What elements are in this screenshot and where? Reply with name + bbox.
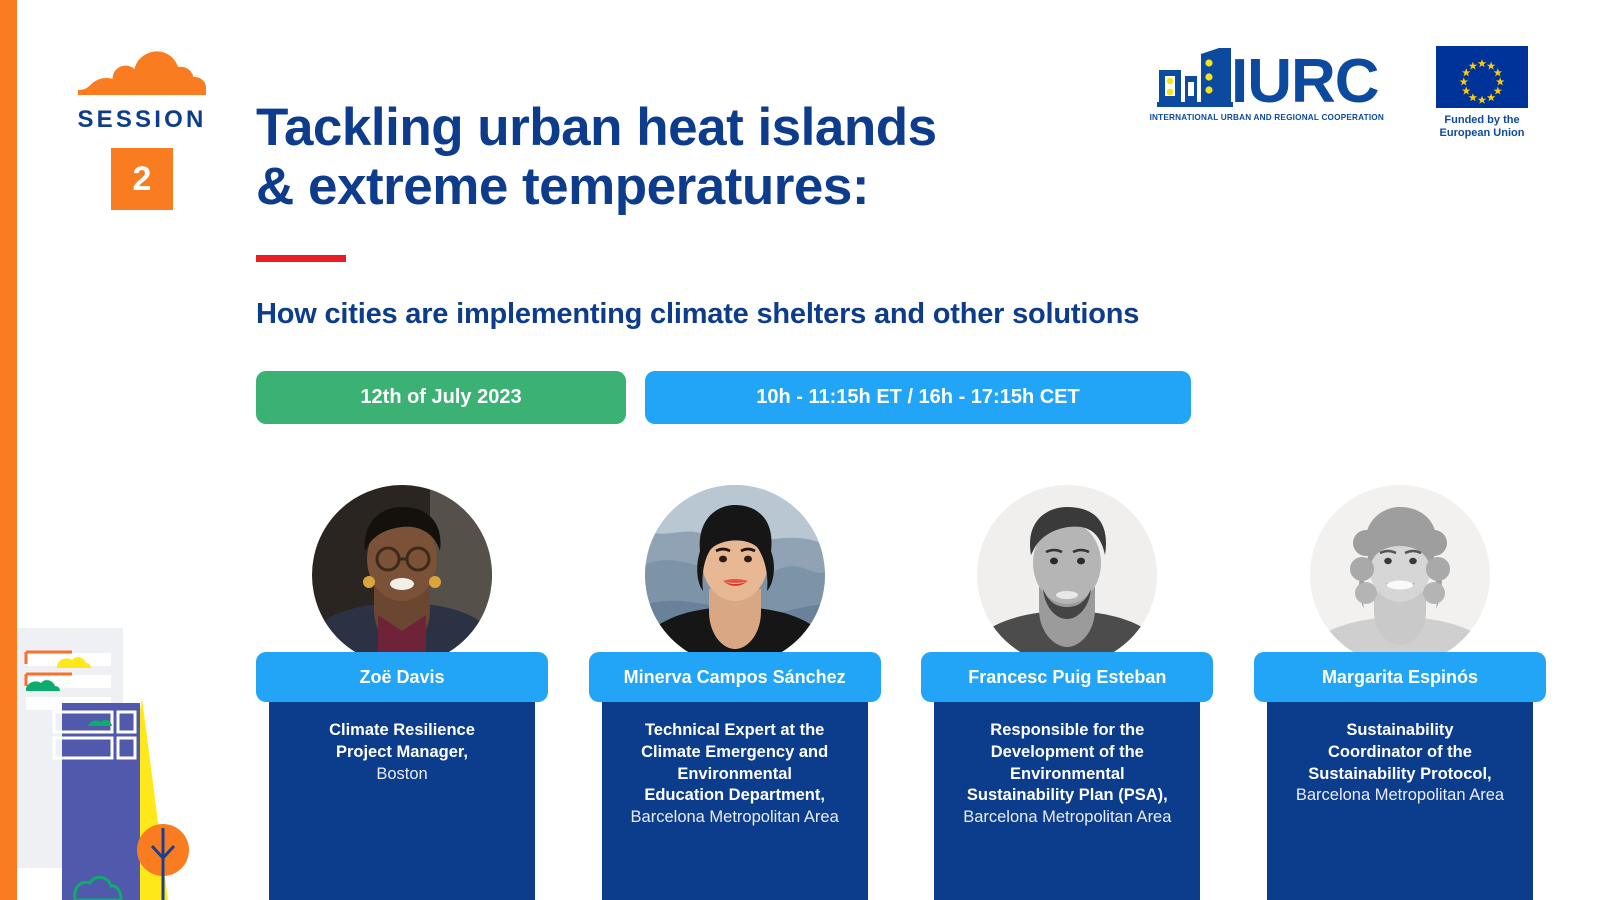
speaker-role: Technical Expert at theClimate Emergency… (612, 720, 858, 807)
cloud-icon (72, 48, 212, 96)
speaker-name: Minerva Campos Sánchez (589, 652, 881, 702)
speaker-card: Zoë Davis Climate ResilienceProject Mana… (256, 485, 548, 900)
red-divider (256, 255, 346, 262)
headline-block: Tackling urban heat islands & extreme te… (256, 98, 1336, 331)
eu-caption: Funded by the European Union (1440, 114, 1525, 140)
page-title: Tackling urban heat islands & extreme te… (256, 98, 1336, 217)
speaker-role: Responsible for theDevelopment of theEnv… (944, 720, 1190, 807)
speaker-name: Zoë Davis (256, 652, 548, 702)
session-number: 2 (133, 162, 152, 196)
speaker-name: Margarita Espinós (1254, 652, 1546, 702)
speaker-role: Climate ResilienceProject Manager, (279, 720, 525, 764)
speaker-card: Minerva Campos Sánchez Technical Expert … (589, 485, 881, 900)
title-line-1: Tackling urban heat islands (256, 98, 937, 157)
speaker-list: Zoë Davis Climate ResilienceProject Mana… (256, 485, 1546, 900)
session-label: SESSION (72, 108, 212, 132)
speaker-org: Barcelona Metropolitan Area (612, 807, 858, 829)
session-number-box: 2 (111, 148, 173, 210)
avatar (977, 485, 1157, 665)
speaker-org: Barcelona Metropolitan Area (1277, 785, 1523, 807)
session-badge: SESSION 2 (72, 48, 212, 210)
speaker-name: Francesc Puig Esteban (921, 652, 1213, 702)
speaker-card: Francesc Puig Esteban Responsible for th… (921, 485, 1213, 900)
eu-flag-icon (1436, 46, 1528, 108)
speaker-bio: Technical Expert at theClimate Emergency… (602, 698, 868, 900)
eu-caption-line2: European Union (1440, 127, 1525, 139)
speaker-org: Barcelona Metropolitan Area (944, 807, 1190, 829)
date-badge: 12th of July 2023 (256, 371, 626, 424)
speaker-bio: Climate ResilienceProject Manager, Bosto… (269, 698, 535, 900)
speaker-role: SustainabilityCoordinator of theSustaina… (1277, 720, 1523, 785)
decorative-city-illustration (0, 610, 215, 900)
avatar (1310, 485, 1490, 665)
eu-logo: Funded by the European Union (1436, 46, 1528, 140)
page-subtitle: How cities are implementing climate shel… (256, 298, 1336, 331)
speaker-bio: SustainabilityCoordinator of theSustaina… (1267, 698, 1533, 900)
speaker-org: Boston (279, 764, 525, 786)
speaker-card: Margarita Espinós SustainabilityCoordina… (1254, 485, 1546, 900)
time-badge: 10h - 11:15h ET / 16h - 17:15h CET (645, 371, 1191, 424)
eu-caption-line1: Funded by the (1444, 114, 1519, 126)
title-line-2: & extreme temperatures: (256, 157, 869, 216)
avatar (312, 485, 492, 665)
avatar (645, 485, 825, 665)
event-badges: 12th of July 2023 10h - 11:15h ET / 16h … (256, 371, 1191, 424)
speaker-bio: Responsible for theDevelopment of theEnv… (934, 698, 1200, 900)
